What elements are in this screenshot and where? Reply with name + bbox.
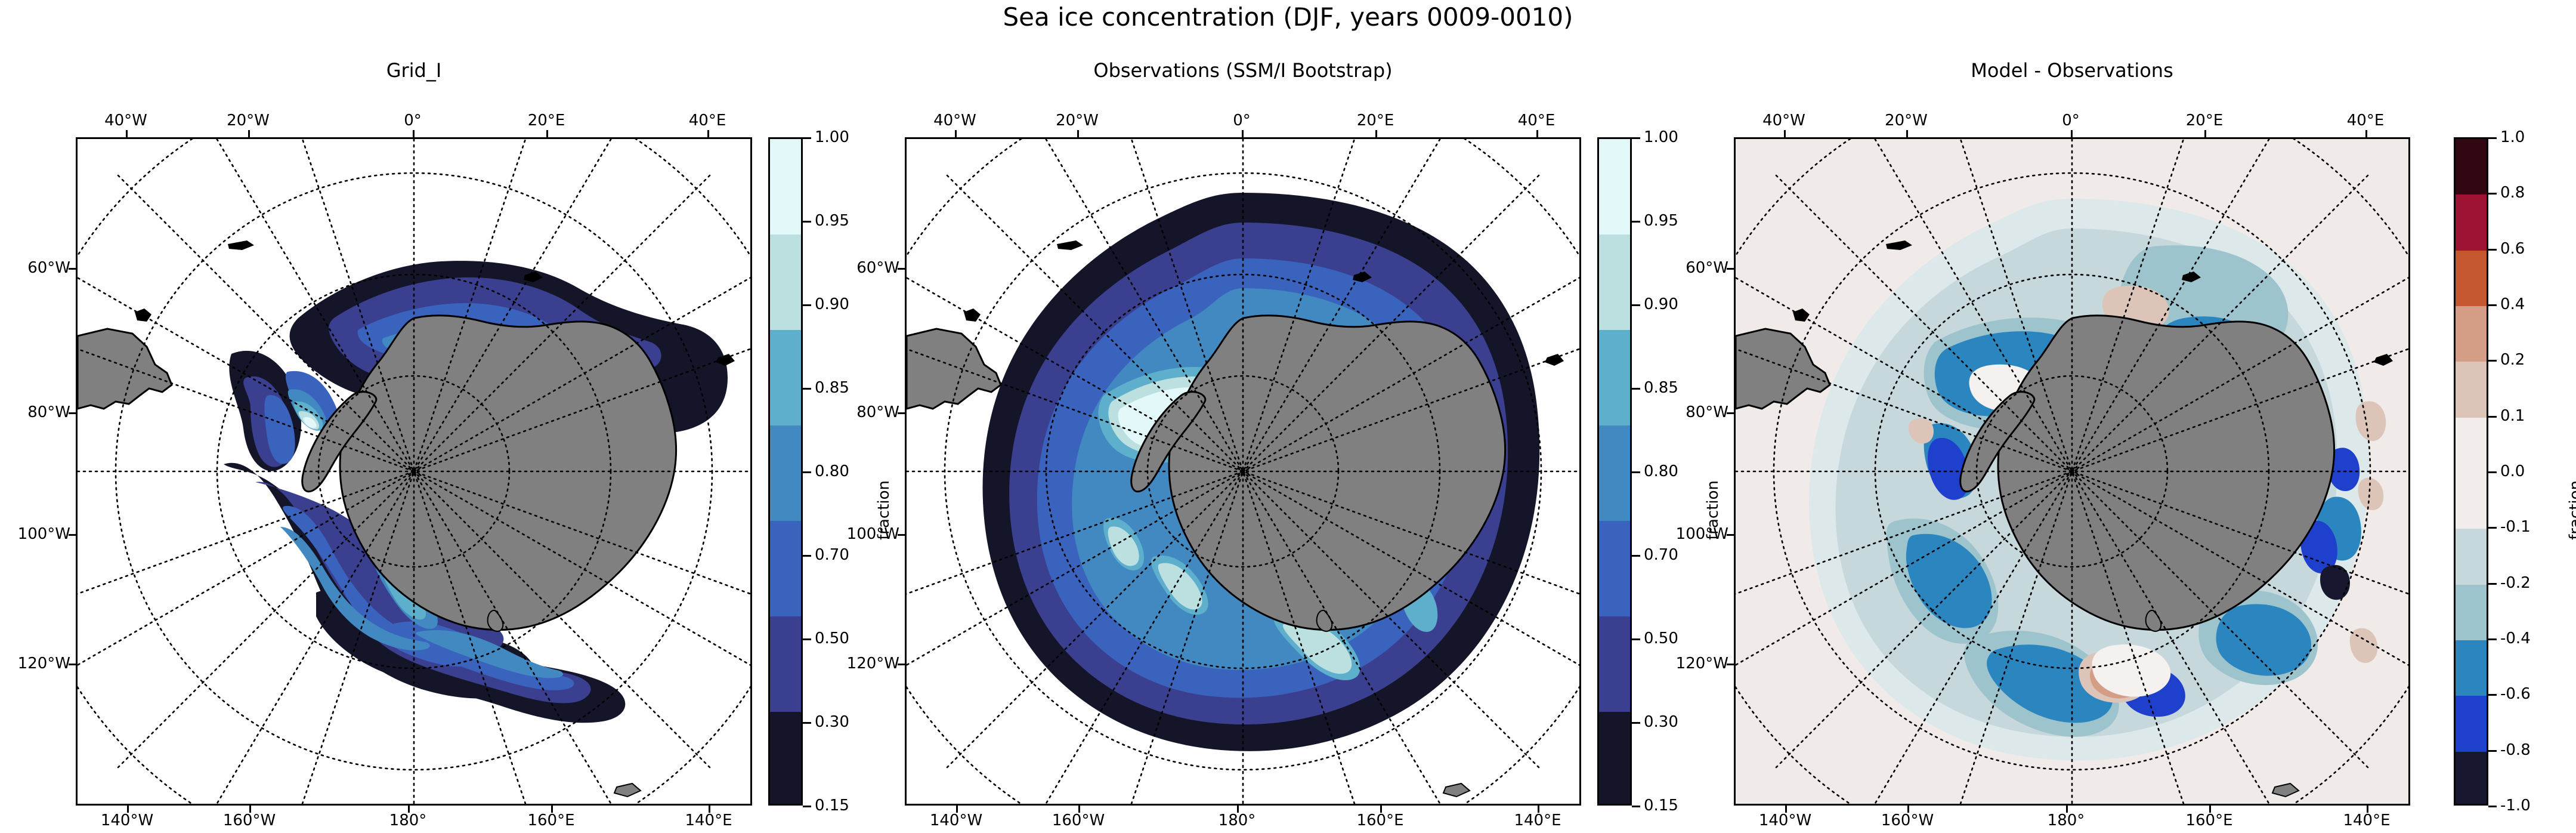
colorbar-tick-label: 0.2 — [2500, 351, 2525, 369]
colorbar-tick-label: 0.30 — [815, 713, 849, 731]
axis-tick — [248, 130, 250, 137]
lon-label-top: 40°W — [933, 112, 976, 129]
colorbar-segment — [1599, 235, 1630, 331]
colorbar-tick-label: 0.80 — [1644, 462, 1678, 480]
colorbar-segment — [770, 712, 801, 806]
lon-label-bottom: 180° — [389, 812, 427, 829]
colorbar-segment — [2456, 418, 2487, 474]
map-axes-difference[interactable] — [1734, 137, 2410, 806]
lon-label-top: 20°W — [227, 112, 270, 129]
axis-tick — [1078, 806, 1080, 813]
lon-label-top: 0° — [404, 112, 422, 129]
map-axes-observations[interactable] — [905, 137, 1581, 806]
colorbar-tick-label: -0.8 — [2500, 741, 2531, 759]
colorbar-tick — [2488, 583, 2497, 585]
colorbar-segment — [1599, 521, 1630, 617]
axis-tick — [69, 664, 76, 665]
colorbar-title-3: fraction — [2566, 480, 2576, 540]
colorbar-tick-label: 0.6 — [2500, 240, 2525, 258]
colorbar-tick-label: 0.85 — [815, 379, 849, 397]
lat-label-left: 100°W — [847, 525, 899, 543]
colorbar-tick — [1632, 221, 1640, 223]
colorbar-tick-label: -0.1 — [2500, 518, 2531, 536]
colorbar-segment — [2456, 306, 2487, 362]
colorbar-tick — [803, 806, 811, 807]
axis-tick — [1380, 806, 1382, 813]
lat-label-left: 80°W — [856, 403, 899, 421]
colorbar-tick — [803, 221, 811, 223]
axis-tick — [249, 806, 251, 813]
axis-tick — [1242, 130, 1244, 137]
panel-title-observations: Observations (SSM/I Bootstrap) — [905, 59, 1581, 82]
lon-label-bottom: 180° — [1219, 812, 1256, 829]
colorbar-segment — [2456, 473, 2487, 529]
lon-label-top: 20°E — [528, 112, 565, 129]
lon-label-top: 40°W — [1762, 112, 1805, 129]
colorbar-tick-label: 0.80 — [815, 462, 849, 480]
colorbar-segment — [2456, 640, 2487, 696]
map-canvas-difference — [1736, 139, 2408, 804]
lon-label-top: 40°E — [2347, 112, 2385, 129]
axis-tick — [1077, 130, 1079, 137]
figure-suptitle: Sea ice concentration (DJF, years 0009-0… — [0, 2, 2576, 32]
lat-label-left: 100°W — [1676, 525, 1728, 543]
colorbar-segment — [770, 616, 801, 712]
axis-tick — [2365, 130, 2367, 137]
colorbar-segment — [770, 330, 801, 426]
colorbar-segment — [1599, 616, 1630, 712]
lon-label-bottom: 160°W — [1052, 812, 1105, 829]
axis-tick — [126, 130, 128, 137]
lat-label-left: 80°W — [27, 403, 70, 421]
axis-tick — [955, 130, 957, 137]
axis-tick — [898, 412, 905, 414]
colorbar-tick — [2488, 694, 2497, 696]
axis-tick — [1727, 534, 1734, 536]
colorbar-tick-label: 1.00 — [1644, 128, 1678, 146]
axis-tick — [1538, 806, 1539, 813]
colorbar-tick — [803, 304, 811, 306]
axis-tick — [1907, 806, 1909, 813]
colorbar-segment — [770, 235, 801, 331]
axis-tick — [1727, 268, 1734, 270]
axis-tick — [898, 664, 905, 665]
colorbar-tick-label: 0.90 — [815, 295, 849, 313]
colorbar-tick-label: 1.0 — [2500, 128, 2525, 146]
colorbar-tick-label: 0.15 — [1644, 797, 1678, 815]
map-axes-model[interactable] — [76, 137, 752, 806]
axis-tick — [1375, 130, 1377, 137]
lon-label-bottom: 140°E — [2343, 812, 2390, 829]
axis-tick — [1727, 412, 1734, 414]
lon-label-top: 20°E — [2186, 112, 2224, 129]
colorbar-tick-label: 0.8 — [2500, 184, 2525, 202]
axis-tick — [2367, 806, 2368, 813]
lon-label-bottom: 140°W — [101, 812, 153, 829]
axis-tick — [1237, 806, 1239, 813]
colorbar-tick — [803, 137, 811, 139]
axis-tick — [709, 806, 710, 813]
colorbar-tick-label: -0.4 — [2500, 630, 2531, 647]
lon-label-bottom: 140°W — [930, 812, 982, 829]
colorbar-segment — [770, 425, 801, 522]
lon-label-top: 0° — [1233, 112, 1251, 129]
axis-tick — [69, 534, 76, 536]
axis-tick — [546, 130, 548, 137]
colorbar-tick — [1632, 806, 1640, 807]
axis-tick — [1906, 130, 1908, 137]
colorbar-tick — [1632, 722, 1640, 724]
colorbar-segment — [1599, 330, 1630, 426]
lat-label-left: 120°W — [18, 655, 70, 672]
figure-canvas: Sea ice concentration (DJF, years 0009-0… — [0, 0, 2576, 833]
colorbar-segment — [2456, 251, 2487, 307]
axis-tick — [408, 806, 410, 813]
colorbar-segment — [2456, 529, 2487, 585]
axis-tick — [1536, 130, 1538, 137]
colorbar-tick-label: 0.1 — [2500, 407, 2525, 425]
colorbar-tick-label: 0.4 — [2500, 295, 2525, 313]
colorbar-tick-label: -0.6 — [2500, 685, 2531, 703]
axis-tick — [707, 130, 709, 137]
lon-label-top: 40°E — [1518, 112, 1556, 129]
colorbar-tick-label: 0.0 — [2500, 462, 2525, 480]
lon-label-top: 20°W — [1885, 112, 1928, 129]
lon-label-top: 0° — [2062, 112, 2080, 129]
lat-label-left: 120°W — [1676, 655, 1728, 672]
lon-label-bottom: 140°W — [1759, 812, 1811, 829]
colorbar-tick — [1632, 304, 1640, 306]
lat-label-left: 60°W — [856, 259, 899, 277]
colorbar-segment — [2456, 696, 2487, 752]
colorbar-tick-label: 0.90 — [1644, 295, 1678, 313]
colorbar-tick — [1632, 388, 1640, 390]
lon-label-bottom: 160°W — [223, 812, 276, 829]
colorbar-segment — [2456, 139, 2487, 195]
colorbar-tick — [803, 638, 811, 640]
axis-tick — [2071, 130, 2073, 137]
colorbar-segment — [770, 139, 801, 235]
colorbar-tick — [2488, 304, 2497, 306]
colorbar-tick — [2488, 360, 2497, 362]
axis-tick — [413, 130, 415, 137]
map-canvas-model — [78, 139, 750, 804]
colorbar-segment — [2456, 585, 2487, 641]
axis-tick — [898, 268, 905, 270]
colorbar-tick-label: 0.95 — [815, 212, 849, 230]
lat-label-left: 60°W — [27, 259, 70, 277]
colorbar-tick — [1632, 638, 1640, 640]
panel-title-model: Grid_I — [76, 59, 752, 82]
lon-label-top: 20°E — [1357, 112, 1394, 129]
lat-label-left: 80°W — [1686, 403, 1728, 421]
colorbar-tick — [2488, 249, 2497, 251]
colorbar-tick — [2488, 416, 2497, 418]
colorbar-tick — [803, 388, 811, 390]
colorbar-tick — [803, 722, 811, 724]
lon-label-bottom: 160°E — [527, 812, 574, 829]
colorbar-tick — [803, 555, 811, 557]
colorbar-tick — [2488, 638, 2497, 640]
colorbar-segment — [2456, 362, 2487, 418]
lon-label-bottom: 140°E — [1514, 812, 1561, 829]
colorbar-tick — [2488, 471, 2497, 473]
lon-label-bottom: 160°W — [1881, 812, 1934, 829]
colorbar-segment — [1599, 712, 1630, 806]
axis-tick — [1785, 806, 1787, 813]
axis-tick — [69, 412, 76, 414]
colorbar-concentration-1[interactable] — [768, 137, 803, 806]
lat-label-left: 100°W — [18, 525, 70, 543]
colorbar-difference[interactable] — [2454, 137, 2488, 806]
axis-tick — [69, 268, 76, 270]
colorbar-tick-label: -0.2 — [2500, 574, 2531, 592]
colorbar-segment — [2456, 195, 2487, 251]
colorbar-tick — [2488, 806, 2497, 807]
colorbar-tick — [2488, 137, 2497, 139]
lon-label-bottom: 180° — [2048, 812, 2085, 829]
colorbar-tick — [1632, 471, 1640, 473]
colorbar-tick — [1632, 555, 1640, 557]
lon-label-top: 40°E — [689, 112, 726, 129]
colorbar-tick-label: -1.0 — [2500, 797, 2531, 815]
axis-tick — [2209, 806, 2211, 813]
axis-tick — [898, 534, 905, 536]
colorbar-tick-label: 0.70 — [815, 546, 849, 564]
colorbar-tick-label: 0.95 — [1644, 212, 1678, 230]
lat-label-left: 60°W — [1686, 259, 1728, 277]
colorbar-segment — [2456, 752, 2487, 806]
colorbar-tick — [803, 471, 811, 473]
colorbar-tick — [1632, 137, 1640, 139]
panel-title-difference: Model - Observations — [1734, 59, 2410, 82]
colorbar-tick-label: 1.00 — [815, 128, 849, 146]
axis-tick — [1727, 664, 1734, 665]
colorbar-tick-label: 0.85 — [1644, 379, 1678, 397]
colorbar-concentration-2[interactable] — [1597, 137, 1632, 806]
lon-label-bottom: 160°E — [2185, 812, 2232, 829]
lat-label-left: 120°W — [847, 655, 899, 672]
lon-label-bottom: 160°E — [1356, 812, 1403, 829]
axis-tick — [551, 806, 553, 813]
lon-label-bottom: 140°E — [685, 812, 732, 829]
lon-label-top: 40°W — [104, 112, 147, 129]
colorbar-tick — [2488, 750, 2497, 752]
axis-tick — [956, 806, 958, 813]
axis-tick — [2204, 130, 2206, 137]
colorbar-tick-label: 0.70 — [1644, 546, 1678, 564]
axis-tick — [2066, 806, 2068, 813]
axis-tick — [127, 806, 129, 813]
map-canvas-observations — [907, 139, 1579, 804]
colorbar-tick — [2488, 527, 2497, 529]
axis-tick — [1784, 130, 1786, 137]
colorbar-segment — [1599, 425, 1630, 522]
colorbar-tick-label: 0.50 — [815, 630, 849, 647]
colorbar-segment — [770, 521, 801, 617]
lon-label-top: 20°W — [1056, 112, 1099, 129]
colorbar-tick-label: 0.15 — [815, 797, 849, 815]
colorbar-segment — [1599, 139, 1630, 235]
colorbar-tick — [2488, 193, 2497, 195]
colorbar-tick-label: 0.30 — [1644, 713, 1678, 731]
colorbar-tick-label: 0.50 — [1644, 630, 1678, 647]
